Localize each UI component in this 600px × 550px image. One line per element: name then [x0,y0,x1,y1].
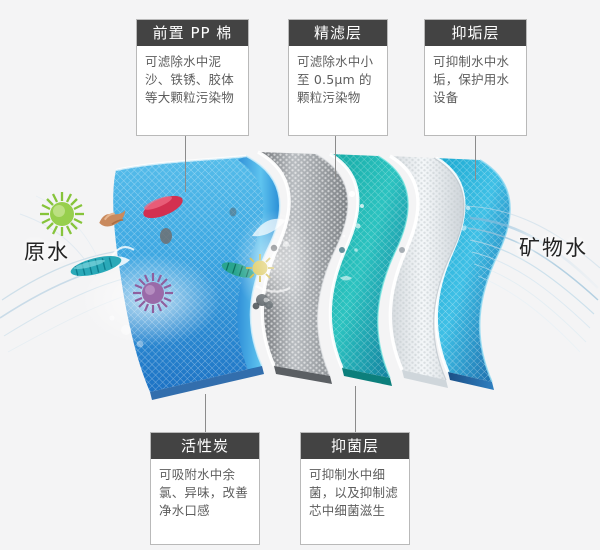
contaminant-spiky-virus-purple [133,273,173,313]
callout-caption-pp-cotton: 前置 PP 棉 [137,20,248,46]
water-splash-mid [234,210,314,314]
callout-caption-anti-scale: 抑垢层 [425,20,526,46]
contaminant-spiky-virus-green [40,192,84,236]
callout-body-activated-carbon: 可吸附水中余氯、异味，改善净水口感 [151,459,259,526]
callout-body-anti-bacteria: 可抑制水中细菌，以及抑制滤芯中细菌滋生 [301,459,409,526]
callout-body-pp-cotton: 可滤除水中泥沙、铁锈、胶体等大颗粒污染物 [137,46,248,113]
callout-caption-activated-carbon: 活性炭 [151,433,259,459]
leader-line-fine-filter [335,136,336,178]
callout-body-fine-filter: 可滤除水中小至 0.5μm 的颗粒污染物 [289,46,387,113]
inlet-label: 原水 [24,236,70,266]
callout-fine-filter[interactable]: 精滤层 可滤除水中小至 0.5μm 的颗粒污染物 [288,19,388,136]
leader-line-anti-bacteria [355,386,356,432]
callout-body-anti-scale: 可抑制水中水垢，保护用水设备 [425,46,526,113]
contaminant-sand-particle [160,228,172,244]
callout-pp-cotton[interactable]: 前置 PP 棉 可滤除水中泥沙、铁锈、胶体等大颗粒污染物 [136,19,249,136]
filter-diagram: 原水 矿物水 前置 PP 棉 可滤除水中泥沙、铁锈、胶体等大颗粒污染物 精滤层 … [0,0,600,550]
leader-line-activated-carbon [205,394,206,432]
leader-line-anti-scale [475,136,476,180]
callout-activated-carbon[interactable]: 活性炭 可吸附水中余氯、异味，改善净水口感 [150,432,260,545]
callout-anti-scale[interactable]: 抑垢层 可抑制水中水垢，保护用水设备 [424,19,527,136]
leader-line-pp-cotton [185,136,186,192]
callout-anti-bacteria[interactable]: 抑菌层 可抑制水中细菌，以及抑制滤芯中细菌滋生 [300,432,410,545]
outlet-label: 矿物水 [519,232,588,262]
callout-caption-anti-bacteria: 抑菌层 [301,433,409,459]
callout-caption-fine-filter: 精滤层 [289,20,387,46]
